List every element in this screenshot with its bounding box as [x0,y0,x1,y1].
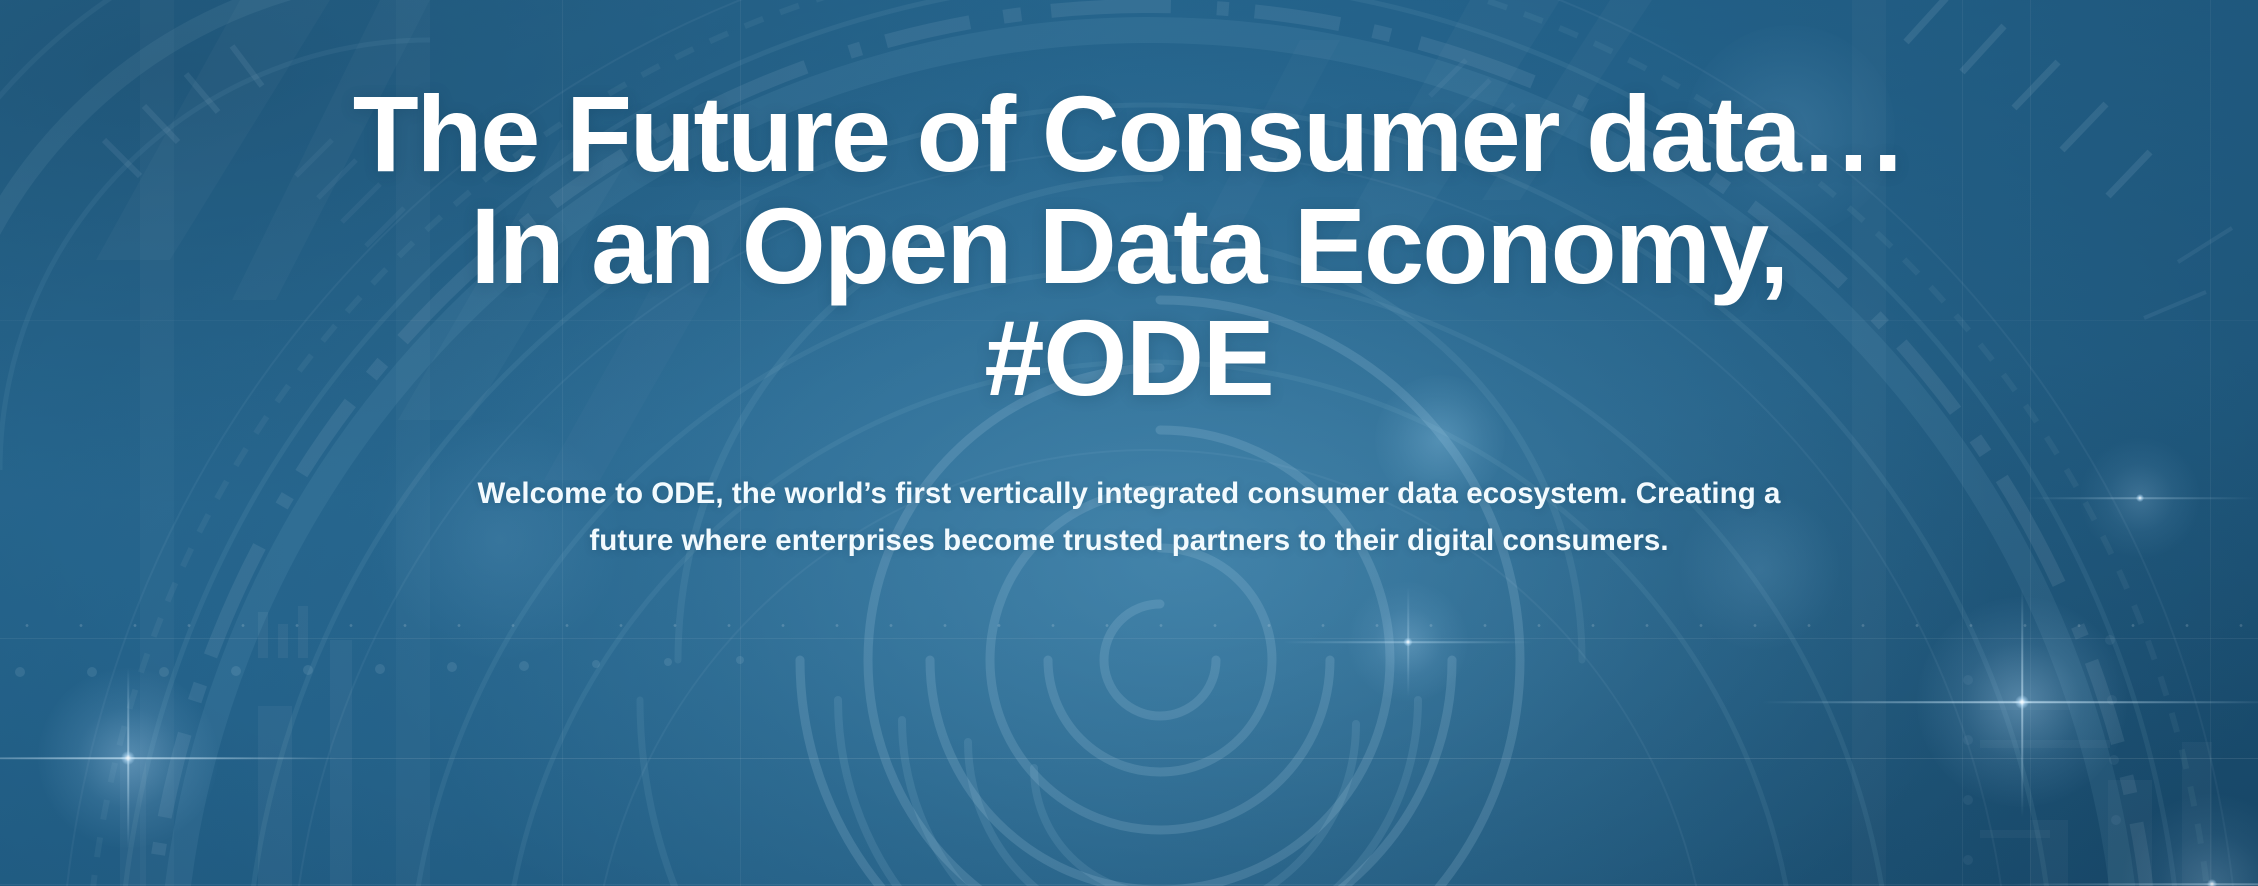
headline-line-2: In an Open Data Economy, [0,190,2258,302]
hero-banner: The Future of Consumer data… In an Open … [0,0,2258,886]
headline-line-3: #ODE [0,302,2258,414]
subcopy-line-1: Welcome to ODE, the world’s first vertic… [478,477,1628,510]
headline-line-1: The Future of Consumer data… [0,78,2258,190]
hero-subcopy: Welcome to ODE, the world’s first vertic… [464,470,1794,564]
page-title: The Future of Consumer data… In an Open … [0,78,2258,414]
hero-content: The Future of Consumer data… In an Open … [0,0,2258,886]
subcopy-line-3: consumers. [1503,524,1669,557]
